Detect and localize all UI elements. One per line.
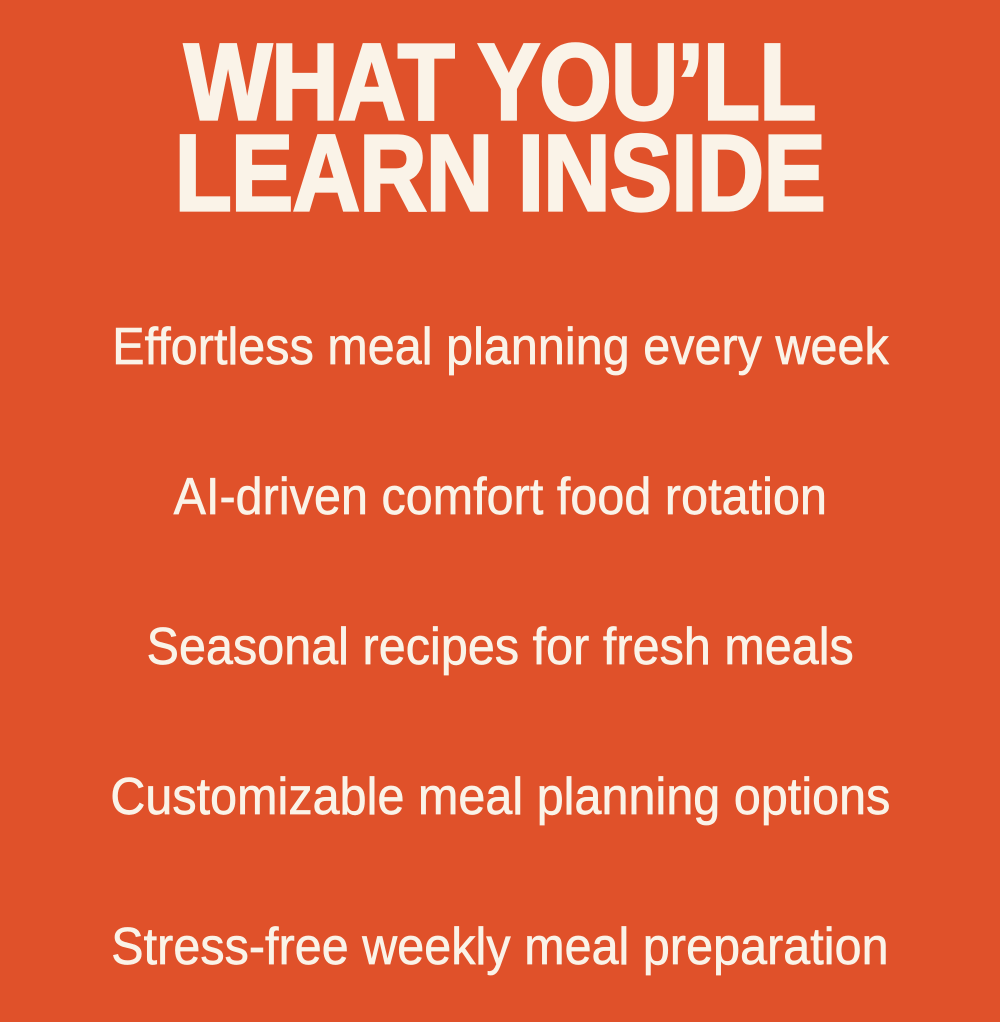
list-item: AI-driven comfort food rotation bbox=[0, 422, 1000, 572]
benefits-list: Effortless meal planning every week AI-d… bbox=[0, 272, 1000, 1022]
benefit-label: Customizable meal planning options bbox=[110, 771, 890, 823]
list-item: Customizable meal planning options bbox=[0, 722, 1000, 872]
benefit-label: AI-driven comfort food rotation bbox=[173, 471, 826, 523]
benefit-label: Seasonal recipes for fresh meals bbox=[146, 621, 853, 673]
promo-poster: WHAT YOU’LL LEARN INSIDE Effortless meal… bbox=[0, 0, 1000, 1000]
benefit-label: Stress-free weekly meal preparation bbox=[111, 921, 888, 973]
page-title: WHAT YOU’LL LEARN INSIDE bbox=[0, 36, 1000, 218]
benefit-label: Effortless meal planning every week bbox=[112, 321, 889, 373]
list-item: Effortless meal planning every week bbox=[0, 272, 1000, 422]
page-title-line-2: LEARN INSIDE bbox=[70, 127, 930, 218]
list-item: Seasonal recipes for fresh meals bbox=[0, 572, 1000, 722]
